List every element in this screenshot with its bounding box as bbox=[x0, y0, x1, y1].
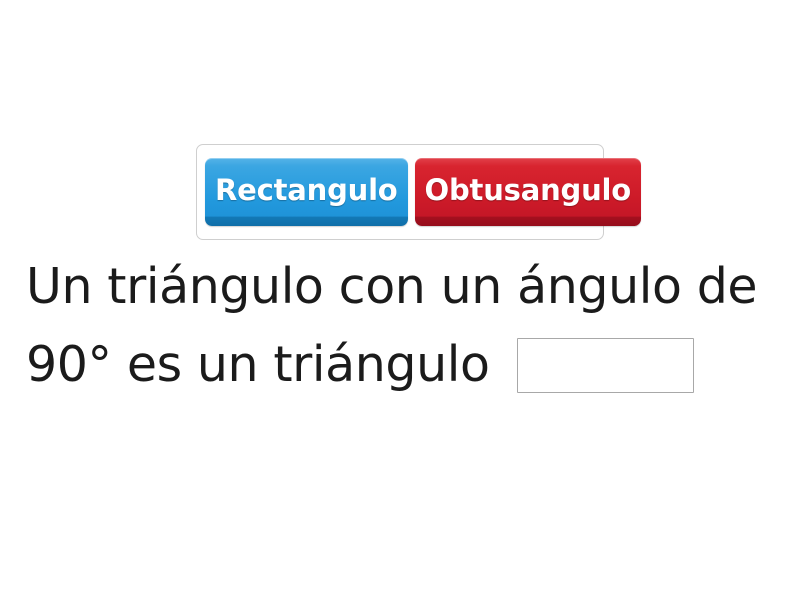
word-tile-label: Obtusangulo bbox=[425, 176, 631, 205]
question-text: Un triángulo con un ángulo de 90° es un … bbox=[26, 248, 782, 404]
word-tile-rectangulo[interactable]: Rectangulo bbox=[205, 158, 408, 226]
question-line-1: Un triángulo con un ángulo de bbox=[26, 248, 782, 326]
question-line-2: 90° es un triángulo bbox=[26, 326, 782, 404]
question-line-2-text: 90° es un triángulo bbox=[26, 326, 490, 404]
activity-stage: Rectangulo Obtusangulo Un triángulo con … bbox=[0, 0, 800, 600]
word-tile-obtusangulo[interactable]: Obtusangulo bbox=[415, 158, 641, 226]
word-tile-label: Rectangulo bbox=[215, 176, 398, 205]
word-bank-tray: Rectangulo Obtusangulo bbox=[196, 144, 604, 240]
answer-drop-box[interactable] bbox=[517, 338, 694, 393]
